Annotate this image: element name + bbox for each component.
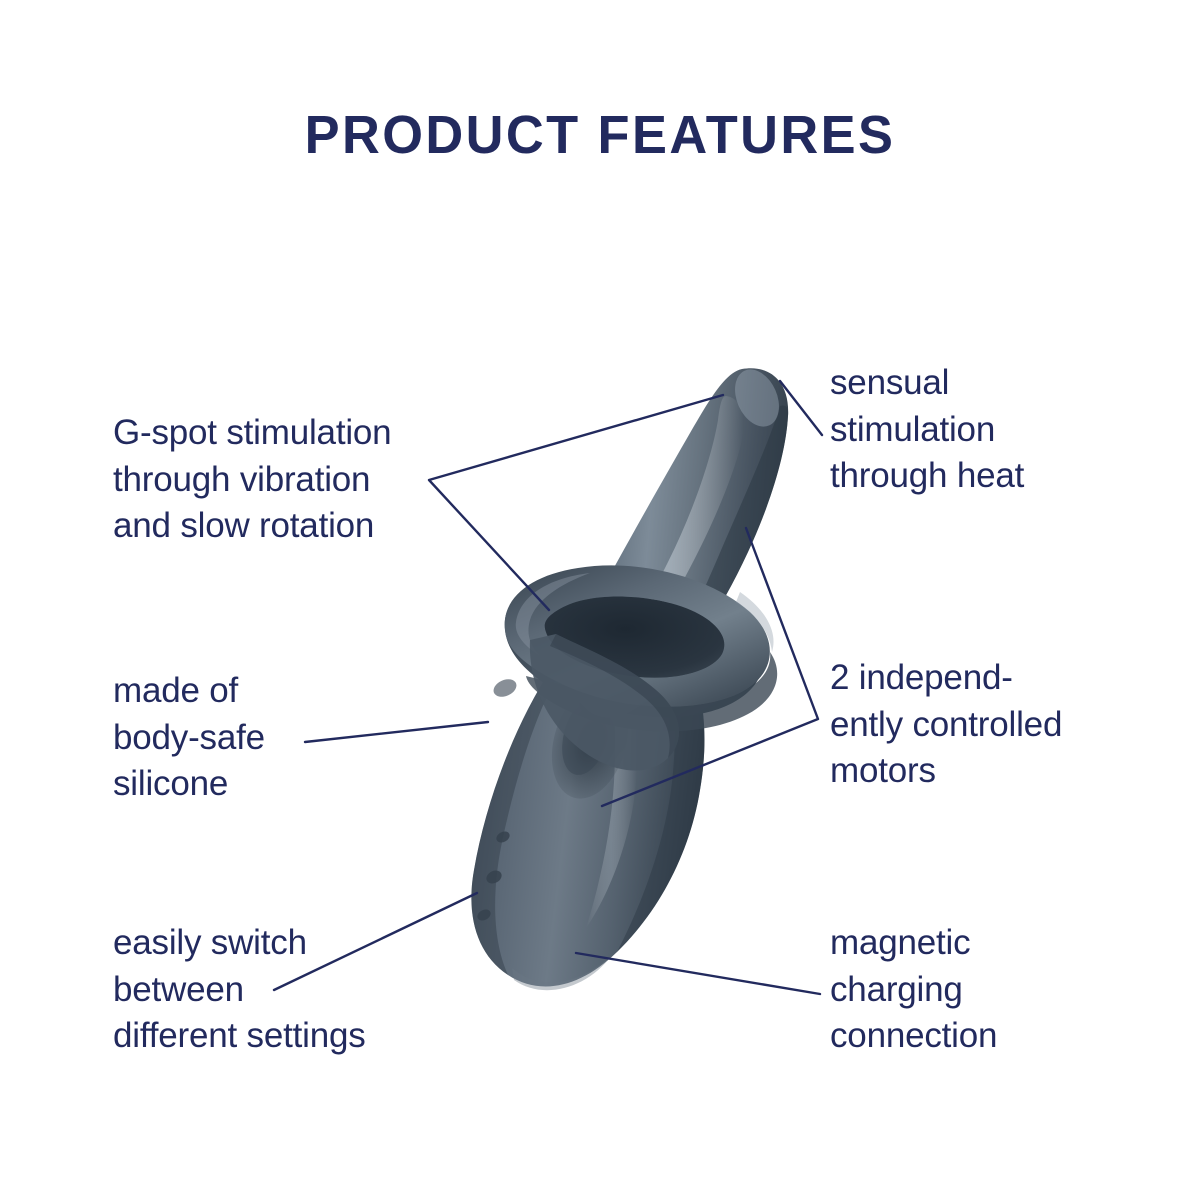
callout-magnetic-charging: magnetic charging connection bbox=[830, 920, 1110, 1060]
callout-body-safe-silicone: made of body-safe silicone bbox=[113, 668, 363, 808]
callout-gspot-stimulation: G-spot stimulation through vibration and… bbox=[113, 410, 453, 550]
brand-mark bbox=[491, 676, 519, 700]
callout-two-independent-motors: 2 independ- ently controlled motors bbox=[830, 655, 1120, 795]
callout-easily-switch-settings: easily switch between different settings bbox=[113, 920, 443, 1060]
callout-sensual-stimulation-heat: sensual stimulation through heat bbox=[830, 360, 1110, 500]
product-features-infographic: PRODUCT FEATURES bbox=[0, 0, 1200, 1200]
